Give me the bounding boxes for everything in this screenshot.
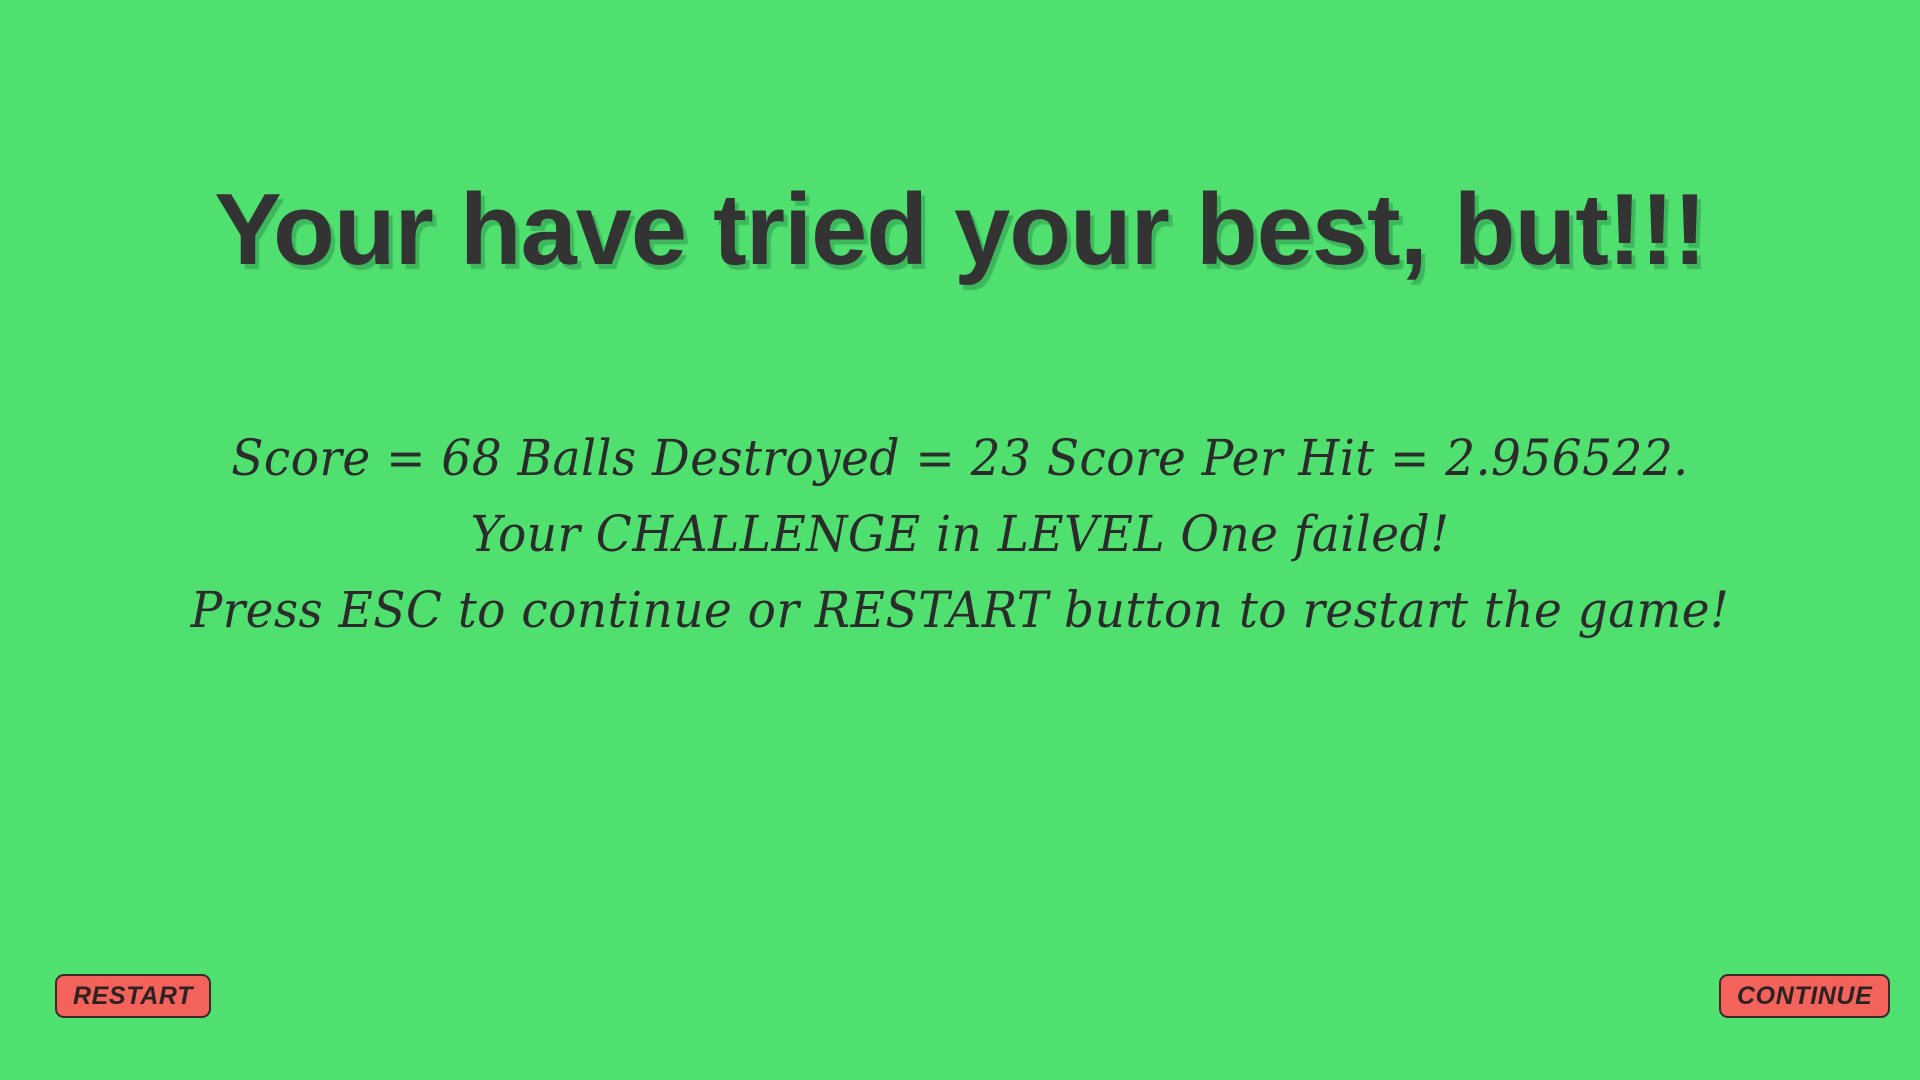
game-over-screen: Your have tried your best, but!!! Score … — [0, 0, 1920, 1080]
page-title: Your have tried your best, but!!! — [0, 176, 1920, 285]
stat-line-score-summary: Score = 68 Balls Destroyed = 23 Score Pe… — [58, 420, 1863, 496]
continue-button[interactable]: CONTINUE — [1719, 974, 1890, 1018]
stat-line-instructions: Press ESC to continue or RESTART button … — [58, 572, 1863, 648]
restart-button[interactable]: RESTART — [55, 974, 211, 1018]
stats-block: Score = 68 Balls Destroyed = 23 Score Pe… — [0, 420, 1920, 648]
stat-line-challenge-status: Your CHALLENGE in LEVEL One failed! — [58, 496, 1863, 572]
